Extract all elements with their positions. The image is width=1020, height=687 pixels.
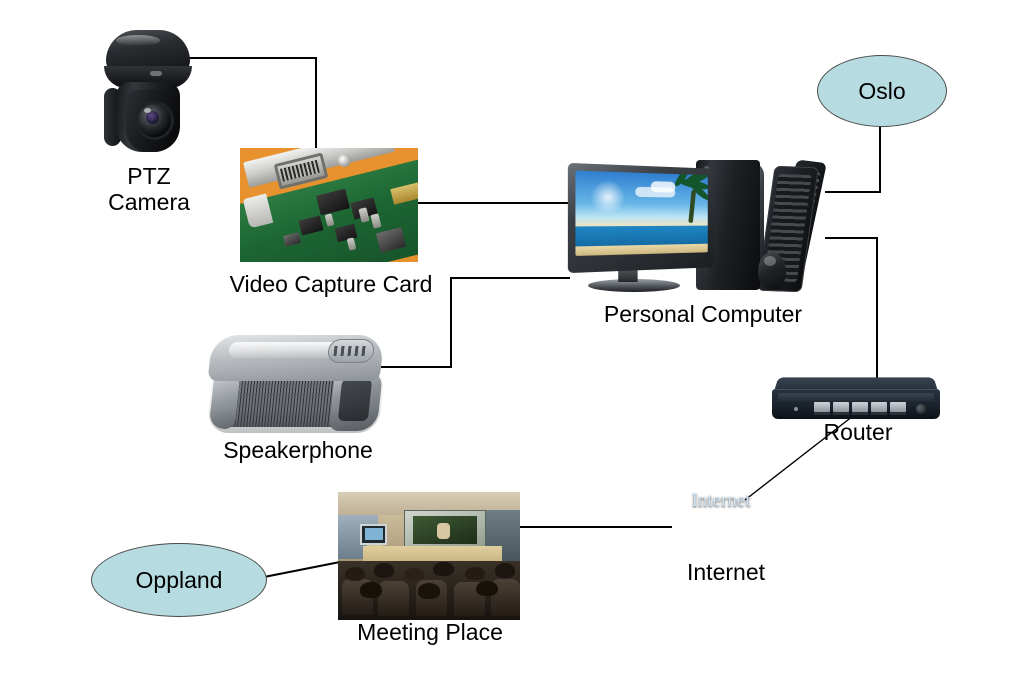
diagram-canvas: PTZ Camera Video Capture Card Speakerpho…	[0, 0, 1020, 687]
link-meeting-place-to-oppland	[264, 562, 340, 577]
video-capture-card-icon	[240, 148, 418, 262]
speakerphone-icon	[210, 335, 386, 439]
meeting-place-label: Meeting Place	[340, 620, 520, 646]
speakerphone-label: Speakerphone	[198, 438, 398, 464]
desktop-computer-icon	[570, 160, 825, 300]
personal-computer-label: Personal Computer	[558, 302, 848, 328]
link-ptz-camera-to-capture-card	[182, 58, 316, 150]
video-capture-card-label: Video Capture Card	[196, 272, 466, 298]
oslo-node[interactable]: Oslo	[817, 55, 947, 127]
internet-cloud-icon: Internet	[660, 462, 782, 546]
internet-label: Internet	[636, 560, 816, 586]
oslo-label: Oslo	[858, 78, 905, 105]
oppland-node[interactable]: Oppland	[91, 543, 267, 617]
ptz-camera-icon	[98, 30, 198, 156]
meeting-room-photo	[338, 492, 520, 620]
router-label: Router	[768, 420, 948, 446]
internet-cloud-text: Internet	[660, 490, 782, 512]
link-oslo-to-personal-computer	[825, 125, 880, 192]
oppland-label: Oppland	[136, 567, 223, 594]
router-ports	[814, 402, 906, 415]
ptz-camera-label: PTZ Camera	[74, 164, 224, 216]
router-icon	[772, 375, 940, 423]
